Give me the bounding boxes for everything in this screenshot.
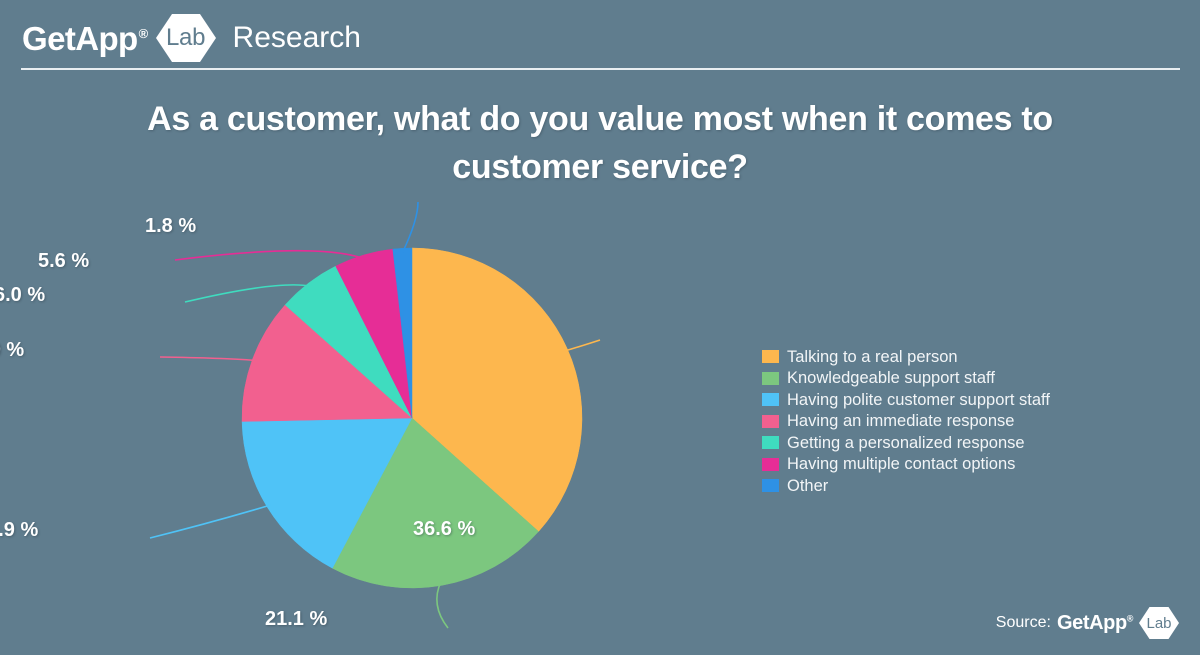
- brand-logo: GetApp® Lab Research: [22, 16, 361, 60]
- slice-value-label-6: 1.8 %: [145, 215, 196, 238]
- source-registered-mark: ®: [1127, 613, 1133, 623]
- leader-line-0: [563, 340, 600, 351]
- slice-value-label-1: 21.1 %: [265, 608, 327, 631]
- leader-line-1: [437, 581, 448, 628]
- legend-item-4[interactable]: Getting a personalized response: [762, 432, 1050, 454]
- slice-value-label-3: 11.9 %: [0, 339, 24, 362]
- lab-badge-label: Lab: [166, 26, 205, 50]
- legend-swatch-icon: [762, 393, 779, 406]
- source-label: Source:: [996, 615, 1051, 631]
- legend-swatch-icon: [762, 415, 779, 428]
- header-divider: [21, 68, 1180, 70]
- pie-chart-svg: [0, 190, 760, 630]
- pie-chart-area: 36.6 % 21.1 % 16.9 % 11.9 % 6.0 % 5.6 % …: [0, 190, 760, 630]
- legend-item-2[interactable]: Having polite customer support staff: [762, 389, 1050, 411]
- leader-line-2: [150, 505, 271, 538]
- legend-item-3[interactable]: Having an immediate response: [762, 411, 1050, 433]
- source-lab-hexagon-badge: Lab: [1138, 606, 1180, 640]
- pie-slices: [242, 248, 582, 588]
- legend-item-label: Having an immediate response: [787, 413, 1014, 430]
- legend-swatch-icon: [762, 372, 779, 385]
- legend-item-6[interactable]: Other: [762, 475, 1050, 497]
- lab-hexagon-badge: Lab: [155, 13, 217, 63]
- slice-value-label-5: 5.6 %: [38, 250, 89, 273]
- legend-item-label: Getting a personalized response: [787, 435, 1025, 452]
- chart-title: As a customer, what do you value most wh…: [100, 95, 1100, 192]
- legend-item-label: Knowledgeable support staff: [787, 370, 995, 387]
- slice-value-label-4: 6.0 %: [0, 284, 45, 307]
- legend-item-1[interactable]: Knowledgeable support staff: [762, 368, 1050, 390]
- legend-swatch-icon: [762, 350, 779, 363]
- legend-swatch-icon: [762, 436, 779, 449]
- legend-item-0[interactable]: Talking to a real person: [762, 346, 1050, 368]
- source-attribution: Source: GetApp® Lab: [996, 605, 1180, 641]
- legend-item-label: Talking to a real person: [787, 349, 958, 366]
- leader-line-5: [175, 251, 365, 260]
- page-header: GetApp® Lab Research: [0, 0, 1200, 72]
- source-brand-name: GetApp®: [1057, 613, 1133, 633]
- section-label: Research: [233, 23, 361, 53]
- leader-line-6: [403, 202, 418, 252]
- brand-name: GetApp®: [22, 22, 148, 55]
- legend-item-5[interactable]: Having multiple contact options: [762, 454, 1050, 476]
- legend-item-label: Having multiple contact options: [787, 456, 1015, 473]
- source-lab-badge-label: Lab: [1146, 616, 1171, 631]
- legend-swatch-icon: [762, 458, 779, 471]
- chart-legend: Talking to a real personKnowledgeable su…: [762, 346, 1050, 497]
- slice-value-label-0: 36.6 %: [413, 518, 475, 541]
- legend-swatch-icon: [762, 479, 779, 492]
- legend-item-label: Having polite customer support staff: [787, 392, 1050, 409]
- registered-mark: ®: [139, 26, 148, 41]
- legend-item-label: Other: [787, 478, 828, 495]
- slice-value-label-2: 16.9 %: [0, 519, 38, 542]
- infographic-page: { "theme": { "background": "#607d8e", "t…: [0, 0, 1200, 655]
- leader-line-3: [160, 357, 256, 360]
